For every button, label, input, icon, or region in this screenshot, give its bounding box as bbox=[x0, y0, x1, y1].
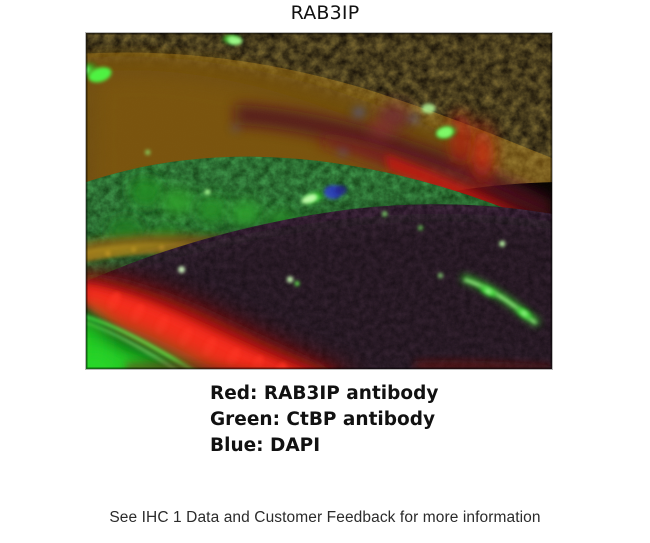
channel-legend: Red: RAB3IP antibody Green: CtBP antibod… bbox=[210, 381, 610, 459]
legend-line-blue: Blue: DAPI bbox=[210, 433, 610, 459]
legend-line-red: Red: RAB3IP antibody bbox=[210, 381, 610, 407]
footer-note: See IHC 1 Data and Customer Feedback for… bbox=[0, 509, 650, 527]
page-title: RAB3IP bbox=[0, 2, 650, 24]
immunofluorescence-image bbox=[86, 33, 552, 369]
legend-line-green: Green: CtBP antibody bbox=[210, 407, 610, 433]
micrograph-panel bbox=[85, 32, 553, 370]
